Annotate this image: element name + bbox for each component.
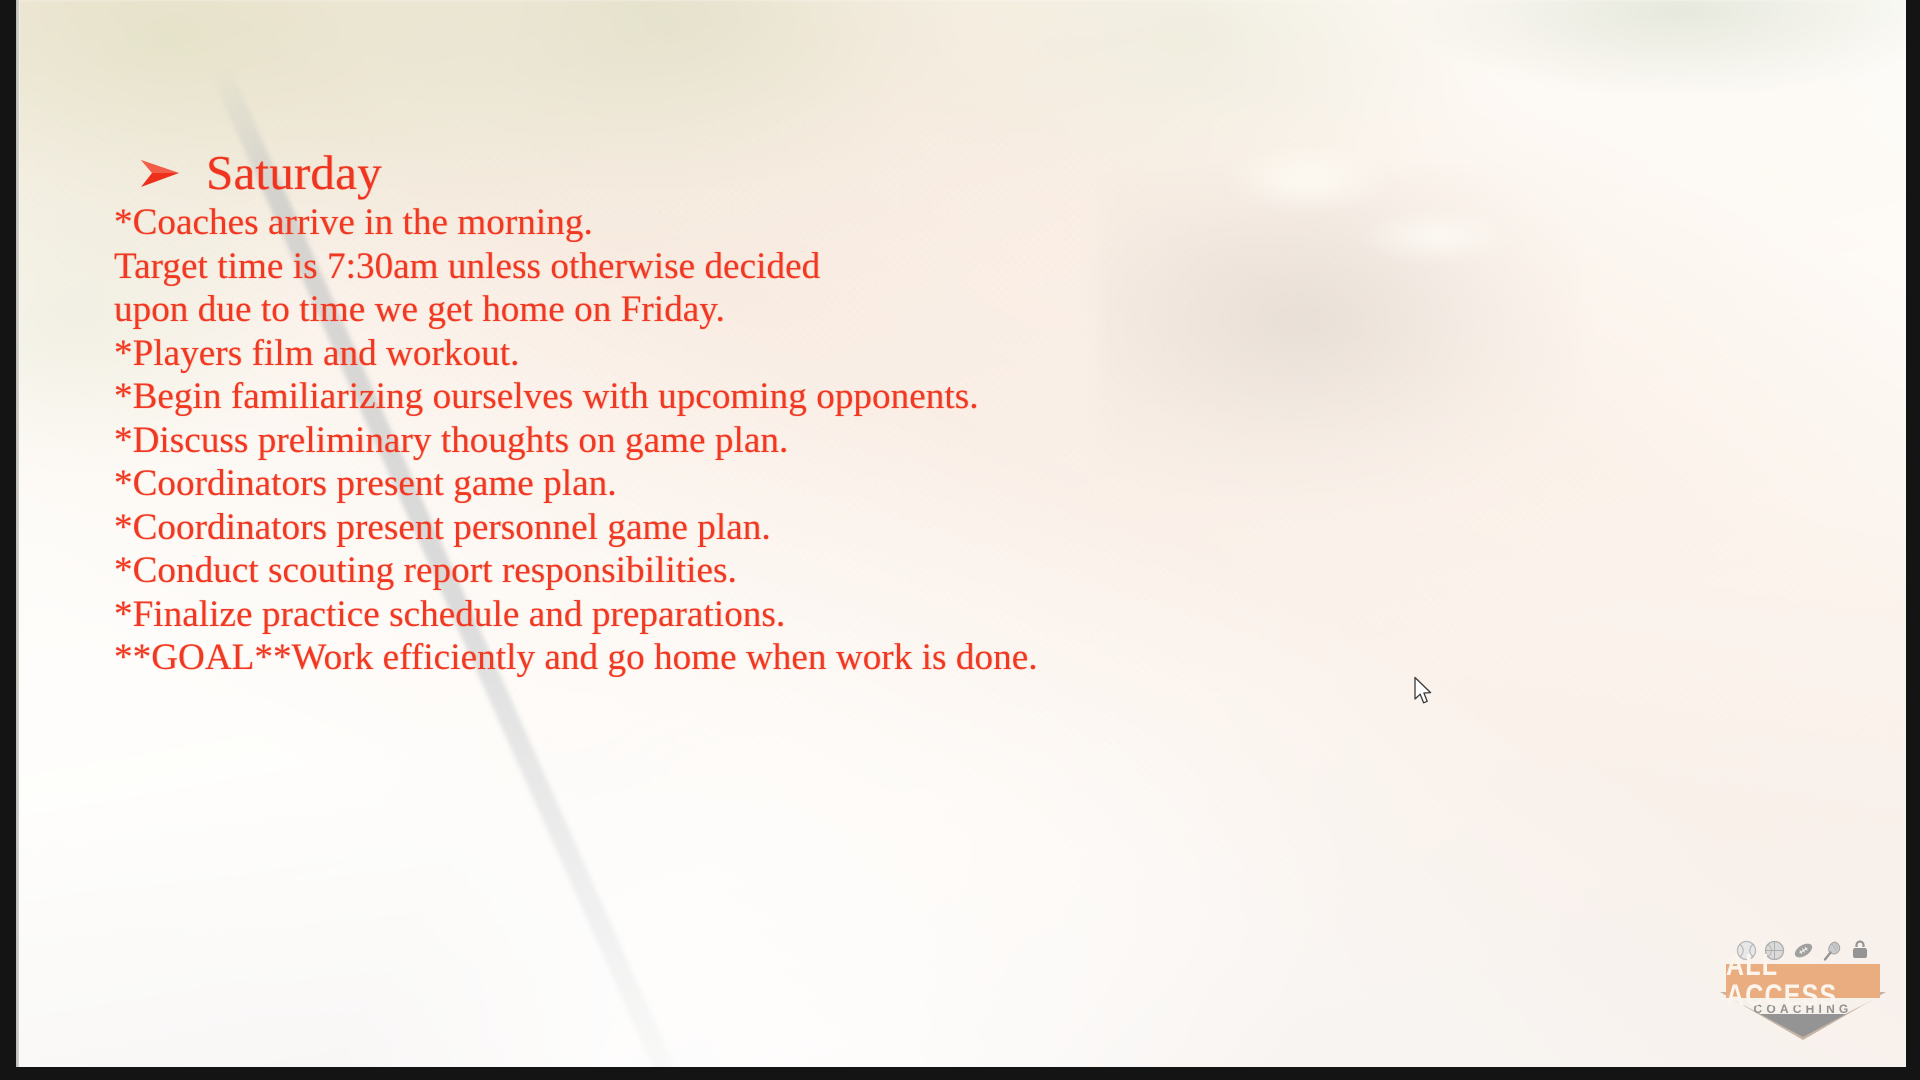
player-bezel-bottom	[0, 1067, 1920, 1080]
slide-line: Target time is 7:30am unless otherwise d…	[114, 245, 1594, 289]
slide-line: upon due to time we get home on Friday.	[114, 288, 1594, 332]
slide-canvas[interactable]: Saturday *Coaches arrive in the morning.…	[19, 0, 1906, 1067]
logo-banner: ALL ACCESS	[1726, 964, 1880, 998]
player-bezel-left	[0, 0, 16, 1080]
slide-text-block: Saturday *Coaches arrive in the morning.…	[114, 148, 1594, 680]
slide-line: *Begin familiarizing ourselves with upco…	[114, 375, 1594, 419]
all-access-coaching-watermark: COACHING ALL ACCESS	[1720, 935, 1886, 1043]
video-player-frame: Saturday *Coaches arrive in the morning.…	[0, 0, 1920, 1080]
slide-line: *Coaches arrive in the morning.	[114, 201, 1594, 245]
slide-line: **GOAL**Work efficiently and go home whe…	[114, 636, 1594, 680]
player-inner-rule-left	[16, 0, 19, 1067]
red-arrowhead-bullet-icon	[138, 156, 182, 190]
player-bezel-right	[1906, 0, 1920, 1080]
slide-line: *Coordinators present personnel game pla…	[114, 506, 1594, 550]
slide-line: *Finalize practice schedule and preparat…	[114, 593, 1594, 637]
slide-line: *Conduct scouting report responsibilitie…	[114, 549, 1594, 593]
slide-line: *Players film and workout.	[114, 332, 1594, 376]
slide-line: *Discuss preliminary thoughts on game pl…	[114, 419, 1594, 463]
logo-wordmark: ALL ACCESS	[1726, 951, 1880, 1012]
slide-heading-row: Saturday	[114, 148, 1594, 197]
page-title: Saturday	[206, 148, 382, 197]
slide-line: *Coordinators present game plan.	[114, 462, 1594, 506]
logo-plate: COACHING ALL ACCESS	[1720, 964, 1886, 1042]
